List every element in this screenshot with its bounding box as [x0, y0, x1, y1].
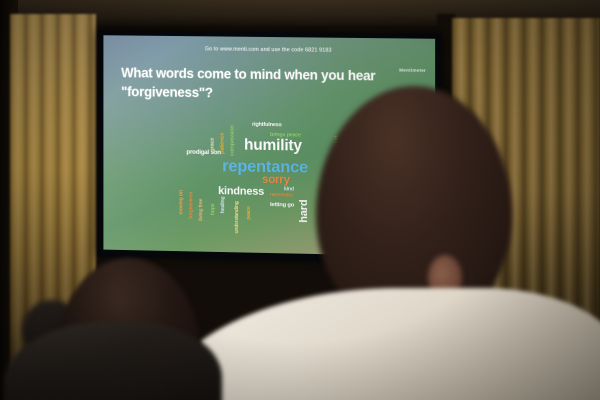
slide-question-title: What words come to mind when you hear "f… — [121, 63, 411, 105]
cloud-word: understanding — [235, 201, 240, 233]
cloud-word: compassion — [231, 125, 237, 156]
cloud-word: brings peace — [270, 133, 301, 139]
cloud-word: rightfulness — [252, 123, 282, 129]
cloud-word: healing — [221, 197, 226, 214]
cloud-word: hard — [299, 200, 310, 223]
cloud-word: living free — [199, 199, 204, 221]
cloud-word: sorry — [262, 175, 290, 187]
cloud-word: hope — [211, 204, 216, 216]
cloud-word: grace — [211, 138, 217, 152]
menti-code-banner: Go to www.menti.com and use the code 682… — [103, 45, 435, 55]
cloud-word: humility — [244, 138, 302, 154]
cloud-word: forgiveness — [189, 192, 194, 219]
cloud-word: moving on — [179, 190, 184, 214]
cloud-word: necessary — [270, 193, 293, 198]
cloud-word: patience — [221, 133, 227, 154]
cloud-word: letting go — [270, 203, 294, 209]
cloud-word: peace — [247, 206, 252, 219]
presentation-room-scene: Go to www.menti.com and use the code 682… — [0, 0, 600, 400]
cloud-word: kind — [284, 187, 294, 192]
